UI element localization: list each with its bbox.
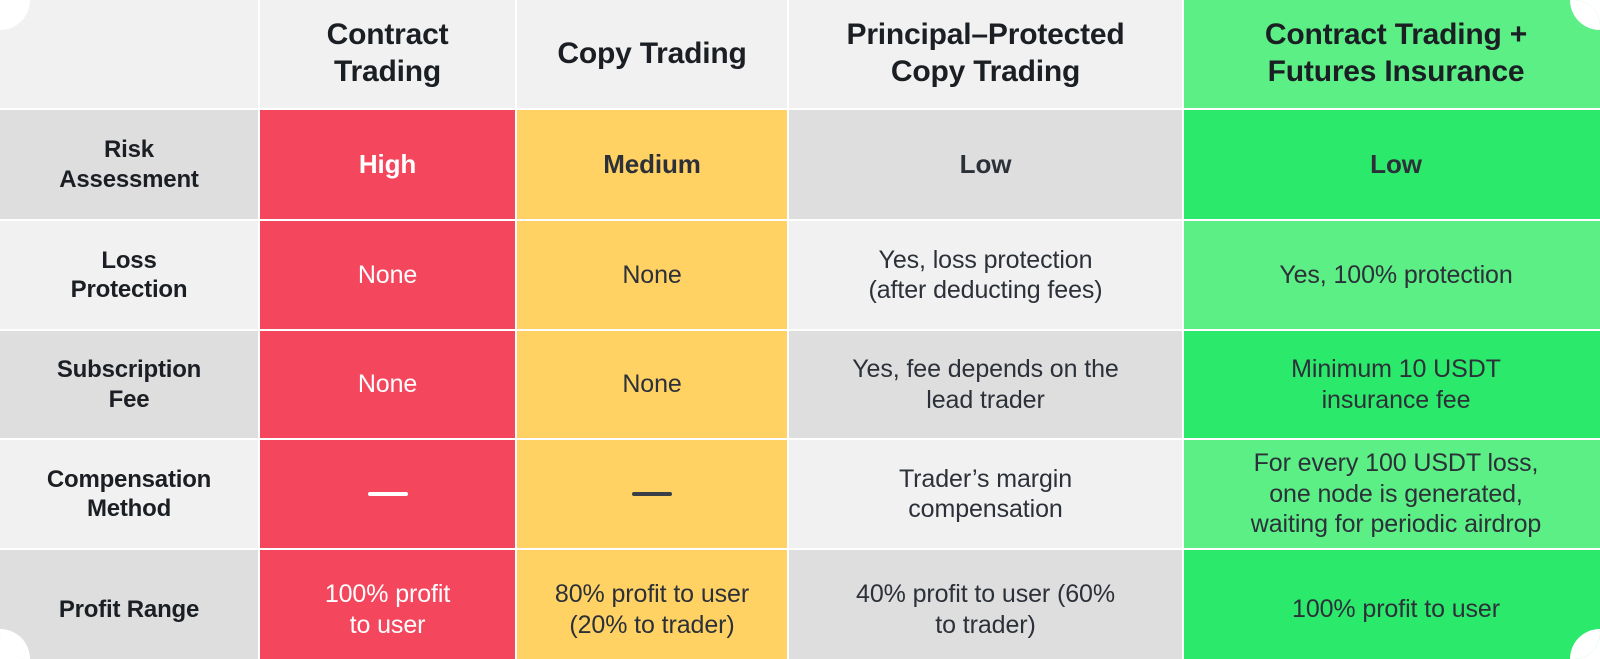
row-label-text: SubscriptionFee	[57, 355, 201, 414]
cell-value: Low	[1370, 149, 1422, 181]
table-cell-loss-insured: Yes, 100% protection	[1184, 221, 1600, 329]
cell-value: Yes, fee depends on thelead trader	[852, 354, 1118, 415]
cell-value: None	[622, 369, 681, 400]
column-header-label: Contract Trading +Futures Insurance	[1265, 17, 1527, 90]
cell-value: Minimum 10 USDTinsurance fee	[1291, 354, 1501, 415]
table-cell-risk-contract: High	[260, 110, 515, 219]
cell-value: None	[358, 260, 417, 291]
table-cell-subscription-insured: Minimum 10 USDTinsurance fee	[1184, 331, 1600, 438]
table-cell-risk-insured: Low	[1184, 110, 1600, 219]
cell-value: None	[622, 260, 681, 291]
comparison-table-grid: ContractTrading Copy Trading Principal–P…	[0, 0, 1600, 659]
table-cell-compensation-copy	[517, 440, 787, 548]
cell-value: None	[358, 369, 417, 400]
column-header-label: ContractTrading	[327, 17, 449, 90]
cell-value: 100% profit to user	[1292, 594, 1500, 625]
table-cell-compensation-principal: Trader’s margincompensation	[789, 440, 1182, 548]
table-cell-compensation-insured: For every 100 USDT loss,one node is gene…	[1184, 440, 1600, 548]
table-cell-loss-copy: None	[517, 221, 787, 329]
cell-value: Yes, loss protection(after deducting fee…	[868, 245, 1102, 306]
comparison-table: ContractTrading Copy Trading Principal–P…	[0, 0, 1600, 659]
em-dash-icon	[368, 492, 408, 496]
cell-value: Yes, 100% protection	[1279, 260, 1512, 291]
em-dash-icon	[632, 492, 672, 496]
table-cell-subscription-copy: None	[517, 331, 787, 438]
table-cell-profit-copy: 80% profit to user(20% to trader)	[517, 550, 787, 659]
column-header-label: Copy Trading	[557, 36, 746, 73]
row-label-text: LossProtection	[71, 246, 188, 305]
cell-value: Trader’s margincompensation	[899, 464, 1072, 525]
table-cell-risk-principal: Low	[789, 110, 1182, 219]
row-label-text: RiskAssessment	[59, 135, 198, 194]
table-cell-profit-contract: 100% profitto user	[260, 550, 515, 659]
row-label-profit-range: Profit Range	[0, 550, 258, 659]
column-header-contract-trading-futures-insurance: Contract Trading +Futures Insurance	[1184, 0, 1600, 108]
row-label-text: Profit Range	[59, 595, 199, 624]
row-label-compensation-method: CompensationMethod	[0, 440, 258, 548]
table-cell-risk-copy: Medium	[517, 110, 787, 219]
cell-value: For every 100 USDT loss,one node is gene…	[1251, 448, 1541, 540]
table-cell-compensation-contract	[260, 440, 515, 548]
cell-value: 100% profitto user	[325, 579, 450, 640]
table-header-corner	[0, 0, 258, 108]
row-label-text: CompensationMethod	[47, 465, 211, 524]
column-header-copy-trading: Copy Trading	[517, 0, 787, 108]
table-cell-loss-principal: Yes, loss protection(after deducting fee…	[789, 221, 1182, 329]
column-header-contract-trading: ContractTrading	[260, 0, 515, 108]
table-cell-profit-insured: 100% profit to user	[1184, 550, 1600, 659]
table-cell-subscription-contract: None	[260, 331, 515, 438]
column-header-label: Principal–ProtectedCopy Trading	[847, 17, 1125, 90]
table-cell-profit-principal: 40% profit to user (60%to trader)	[789, 550, 1182, 659]
column-header-principal-protected-copy-trading: Principal–ProtectedCopy Trading	[789, 0, 1182, 108]
table-cell-subscription-principal: Yes, fee depends on thelead trader	[789, 331, 1182, 438]
row-label-loss-protection: LossProtection	[0, 221, 258, 329]
cell-value: High	[359, 149, 416, 181]
cell-value: Low	[960, 149, 1012, 181]
cell-value: Medium	[603, 149, 701, 181]
cell-value: 80% profit to user(20% to trader)	[555, 579, 749, 640]
row-label-risk-assessment: RiskAssessment	[0, 110, 258, 219]
row-label-subscription-fee: SubscriptionFee	[0, 331, 258, 438]
table-cell-loss-contract: None	[260, 221, 515, 329]
cell-value: 40% profit to user (60%to trader)	[856, 579, 1115, 640]
